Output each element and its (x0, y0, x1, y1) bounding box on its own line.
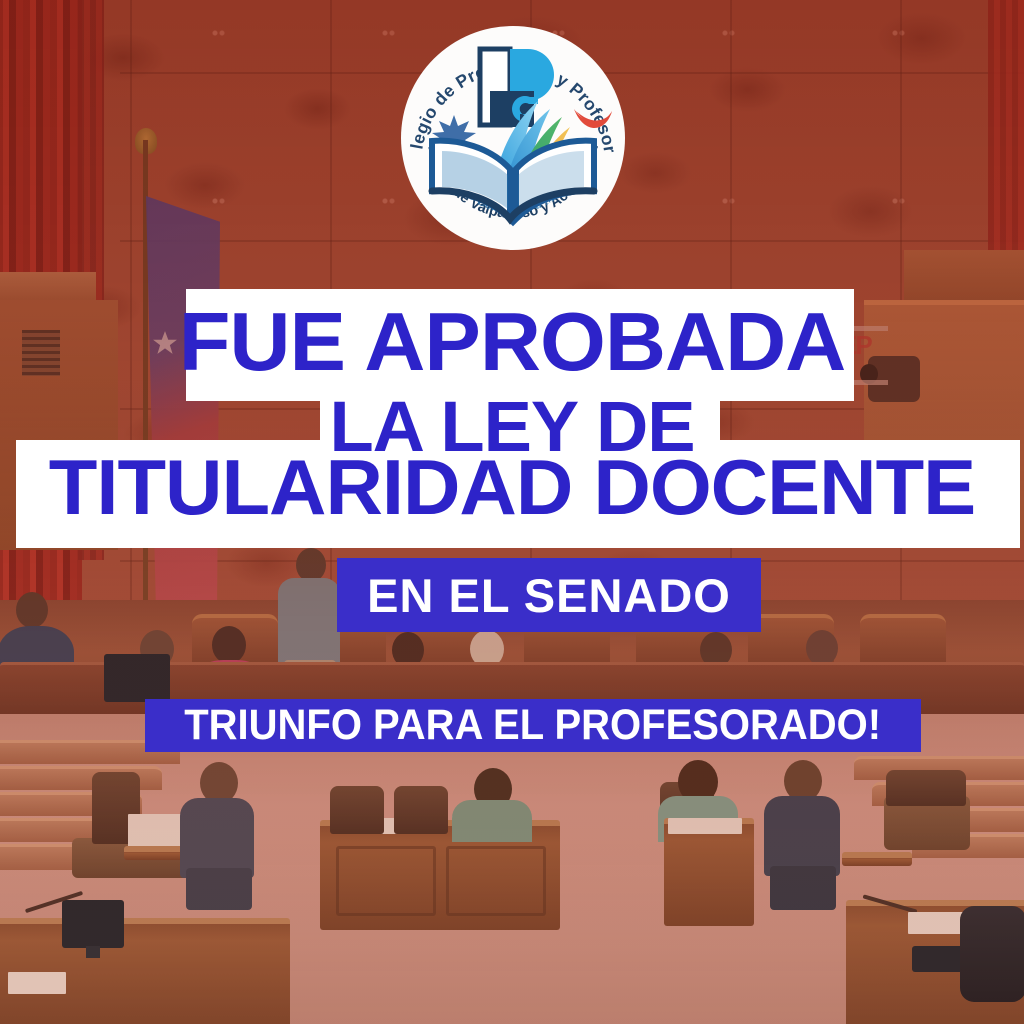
chilean-flag (146, 196, 220, 626)
headline-line-1: FUE APROBADA (179, 300, 846, 383)
office-chair (960, 906, 1024, 1002)
person-legs (186, 868, 252, 910)
person-body (764, 796, 840, 876)
paper-stack (128, 814, 186, 848)
senator-head (16, 592, 48, 628)
person-legs (770, 866, 836, 910)
standing-person-head (296, 548, 326, 582)
desk-papers (668, 818, 742, 834)
senator-head (806, 630, 838, 666)
foreground-desk-left (0, 918, 290, 1024)
flag-star-icon (152, 330, 178, 356)
right-dais-desk (664, 818, 754, 926)
headline-line-3: TITULARIDAD DOCENTE (49, 448, 975, 526)
triumph-callout-text: TRIUNFO PARA EL PROFESORADO! (185, 701, 882, 750)
triumph-callout-band: TRIUNFO PARA EL PROFESORADO! (145, 699, 921, 752)
center-desk-panel (336, 846, 436, 916)
desk-monitor (104, 654, 170, 702)
organization-logo: Colegio de Profesoras y Profesores Regió… (398, 23, 628, 253)
wall-grill (22, 330, 60, 376)
person-body (452, 800, 532, 842)
wooden-chair (330, 786, 384, 834)
desk-papers (8, 972, 66, 994)
person-body (180, 798, 254, 878)
monitor-stand (86, 946, 100, 958)
wooden-chair (394, 786, 448, 834)
wooden-chair (886, 770, 966, 806)
desk-monitor (62, 900, 124, 948)
small-side-table (842, 852, 912, 866)
senator-head (212, 626, 246, 664)
senate-subheading-text: EN EL SENADO (367, 568, 731, 623)
senate-subheading-band: EN EL SENADO (337, 558, 761, 632)
logo-svg: Colegio de Profesoras y Profesores Regió… (398, 23, 628, 253)
center-desk-panel (446, 846, 546, 916)
poster-canvas: EP (0, 0, 1024, 1024)
